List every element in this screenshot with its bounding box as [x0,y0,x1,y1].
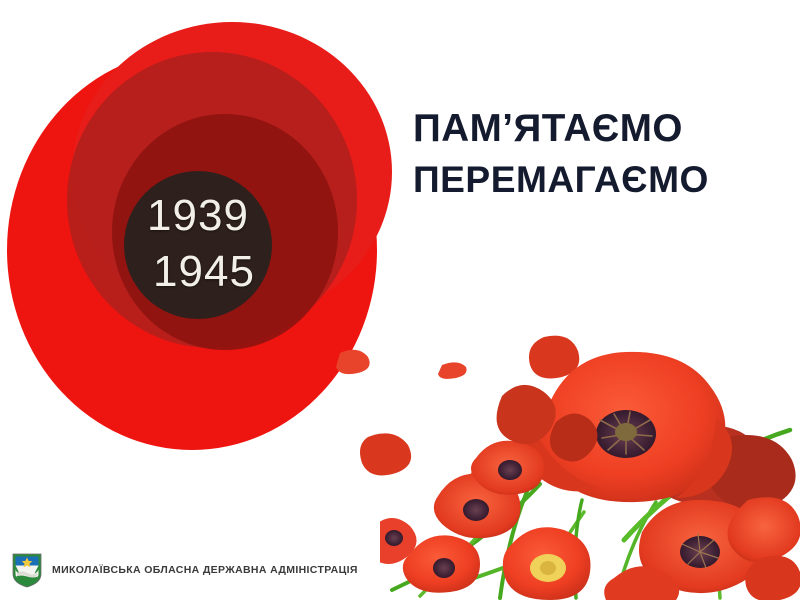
poppy-flower-cluster [380,340,800,600]
poppy-small1-center [463,499,489,521]
footer: МИКОЛАЇВСЬКА ОБЛАСНА ДЕРЖАВНА АДМІНІСТРА… [12,552,358,588]
poppy-large-stigma [615,423,637,441]
poppy-small2-center [433,558,455,578]
headline-line-1: ПАМ’ЯТАЄМО [413,104,779,154]
mykolaiv-oblast-coat-of-arms-icon [12,552,42,588]
poppy-flower-yellow-center [503,527,591,600]
remembrance-poster: 1939 1945 ПАМ’ЯТАЄМО ПЕРЕМАГАЄМО [0,0,800,600]
poppy-layer-center-dark [124,171,272,319]
headline: ПАМ’ЯТАЄМО ПЕРЕМАГАЄМО [413,104,783,204]
organization-name: МИКОЛАЇВСЬКА ОБЛАСНА ДЕРЖАВНА АДМІНІСТРА… [52,564,358,576]
poppy-yellow-core [540,561,556,575]
poppy-small3-center [385,530,403,546]
poppy-flower-right-edge [728,497,800,600]
floating-petal-1 [336,350,370,374]
headline-line-2: ПЕРЕМАГАЄМО [413,154,779,204]
poppy-small4-center [498,460,522,480]
